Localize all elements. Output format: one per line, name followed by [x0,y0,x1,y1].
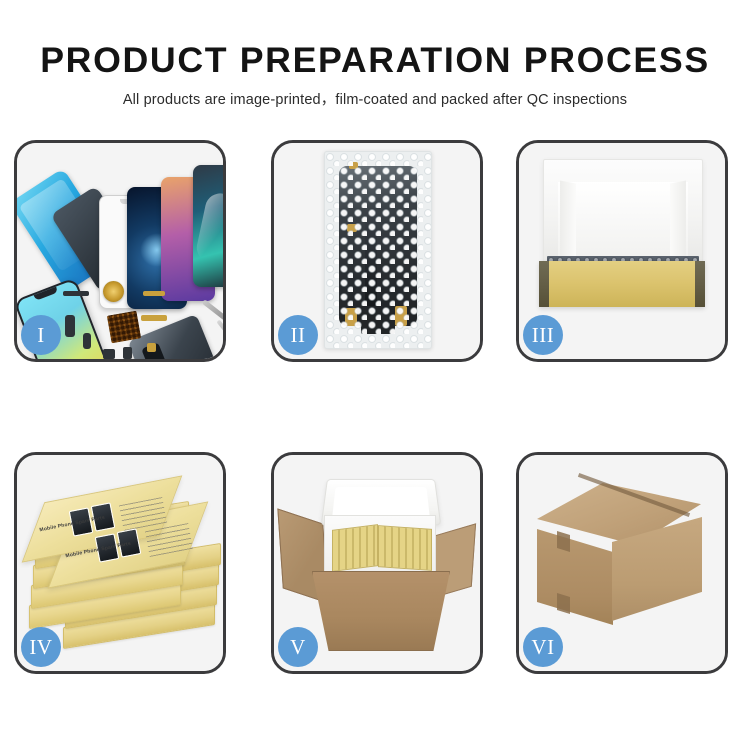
chip-array-icon [107,311,141,344]
foam-lid-icon [543,159,703,269]
gold-connector-icon [141,315,167,321]
carton-tape-lower-icon [557,593,570,614]
step-badge-6: VI [523,627,563,667]
yellow-inner-box-icon [539,261,705,307]
step-badge-2: II [278,315,318,355]
gold-contact-icon [147,343,156,352]
phone-teal-display-icon [193,165,223,287]
step-badge-5: V [278,627,318,667]
process-step-card-6: VI [516,452,728,674]
spare-part-button-icon [83,333,91,349]
process-step-card-3: III [516,140,728,362]
process-step-card-4: Mobile Phone Spare Parts Mobile Phone Sp… [14,452,226,674]
carton-tape-upper-icon [557,531,570,552]
speaker-coil-icon [103,281,124,302]
product-preparation-process-page: PRODUCT PREPARATION PROCESS All products… [0,0,750,750]
spare-part-bracket-icon [63,291,89,296]
gold-flex-strip-icon [143,291,165,296]
box-stack-icon: Mobile Phone Spare Parts Mobile Phone Sp… [25,473,215,653]
spare-part-flexcable-icon [65,315,75,337]
step-badge-1: I [21,315,61,355]
step-badge-3: III [523,315,563,355]
yellow-boxes-group-right [378,525,432,571]
shipping-carton-body-icon [312,571,450,651]
process-step-card-5: V [271,452,483,674]
process-step-grid: I II [0,0,750,750]
yellow-boxes-group-left [332,524,378,572]
bubble-texture-icon [325,152,431,348]
sealed-carton-front-icon [537,529,613,625]
spare-part-sensor-icon [123,347,132,359]
step-badge-4: IV [21,627,61,667]
tweezers-icon [216,320,223,343]
bubble-wrap-bag-icon [324,151,432,349]
process-step-card-1: I [14,140,226,362]
process-step-card-2: II [271,140,483,362]
spare-part-camera-icon [103,349,115,359]
